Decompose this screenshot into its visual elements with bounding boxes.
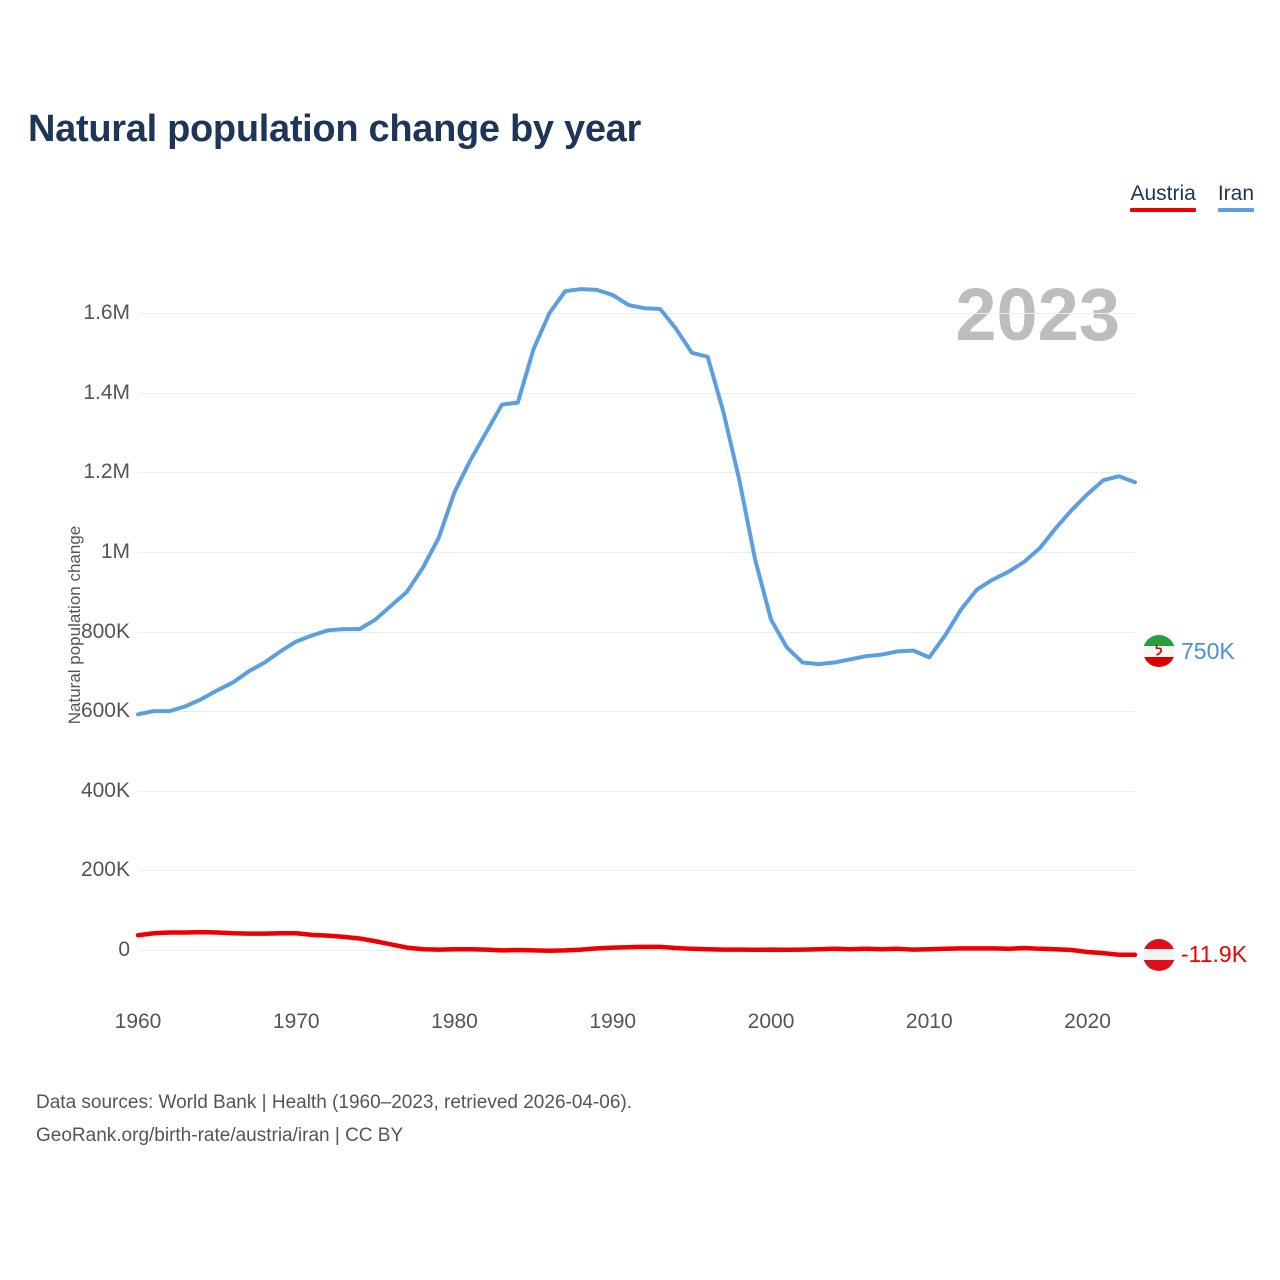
iran-emblem-icon: ל <box>1155 645 1162 658</box>
austria-flag-icon <box>1143 939 1175 971</box>
end-marker-iran[interactable]: ל 750K <box>1143 635 1235 667</box>
end-marker-austria[interactable]: -11.9K <box>1143 939 1247 971</box>
end-value-iran: 750K <box>1181 638 1235 665</box>
footer-line-attribution[interactable]: GeoRank.org/birth-rate/austria/iran | CC… <box>36 1119 632 1152</box>
end-value-austria: -11.9K <box>1181 941 1247 968</box>
iran-flag-icon: ל <box>1143 635 1175 667</box>
line-iran <box>138 289 1135 714</box>
footer: Data sources: World Bank | Health (1960–… <box>36 1086 632 1153</box>
chart-page: Natural population change by year Austri… <box>0 0 1280 1280</box>
footer-line-sources: Data sources: World Bank | Health (1960–… <box>36 1086 632 1119</box>
line-austria <box>138 932 1135 955</box>
